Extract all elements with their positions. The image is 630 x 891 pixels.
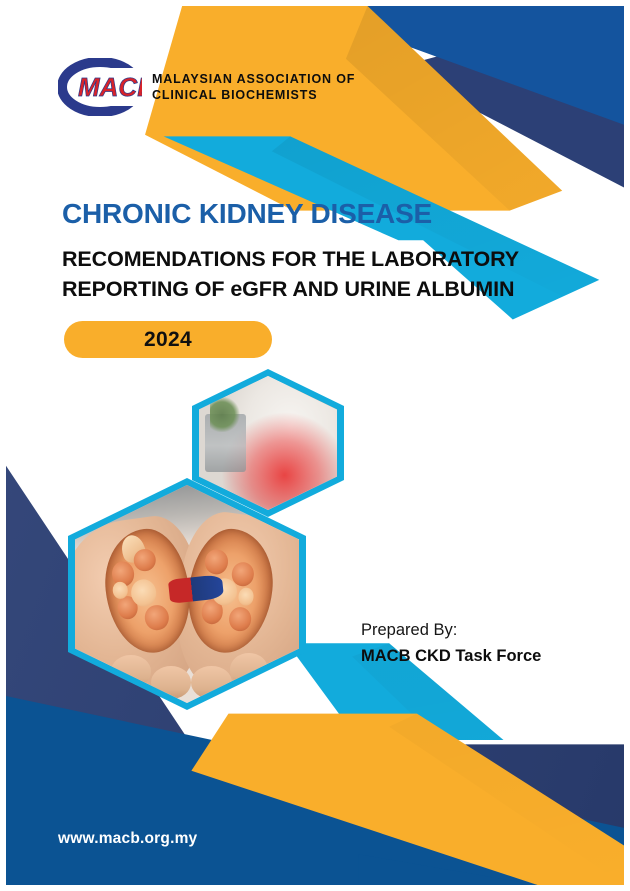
org-line-1: MALAYSIAN ASSOCIATION OF	[152, 71, 355, 87]
prepared-by-block: Prepared By: MACB CKD Task Force	[361, 618, 541, 669]
macb-ring-logo-icon: MACB	[58, 58, 142, 116]
page-sheet: MACB MALAYSIAN ASSOCIATION OF CLINICAL B…	[6, 6, 624, 885]
title-block: CHRONIC KIDNEY DISEASE RECOMENDATIONS FO…	[62, 199, 592, 305]
page-title: CHRONIC KIDNEY DISEASE	[62, 199, 592, 230]
back-pain-photo-icon	[199, 376, 337, 510]
prepared-by-label: Prepared By:	[361, 618, 541, 644]
kidney-model-photo-icon	[75, 485, 299, 703]
year-badge: 2024	[64, 321, 272, 358]
organisation-logo: MACB MALAYSIAN ASSOCIATION OF CLINICAL B…	[58, 58, 355, 116]
page-subtitle-line-1: RECOMENDATIONS FOR THE LABORATORY	[62, 244, 592, 275]
prepared-by-value: MACB CKD Task Force	[361, 644, 541, 670]
organisation-name: MALAYSIAN ASSOCIATION OF CLINICAL BIOCHE…	[152, 71, 355, 103]
kidney-model-photo-frame	[75, 485, 299, 703]
year-badge-label: 2024	[144, 328, 192, 352]
footer-website-url[interactable]: www.macb.org.my	[58, 830, 197, 848]
org-line-2: CLINICAL BIOCHEMISTS	[152, 87, 355, 103]
page-subtitle-line-2: REPORTING OF eGFR AND URINE ALBUMIN	[62, 274, 592, 305]
svg-text:MACB: MACB	[78, 72, 142, 102]
document-cover: MACB MALAYSIAN ASSOCIATION OF CLINICAL B…	[0, 0, 630, 891]
back-pain-photo-frame	[199, 376, 337, 510]
